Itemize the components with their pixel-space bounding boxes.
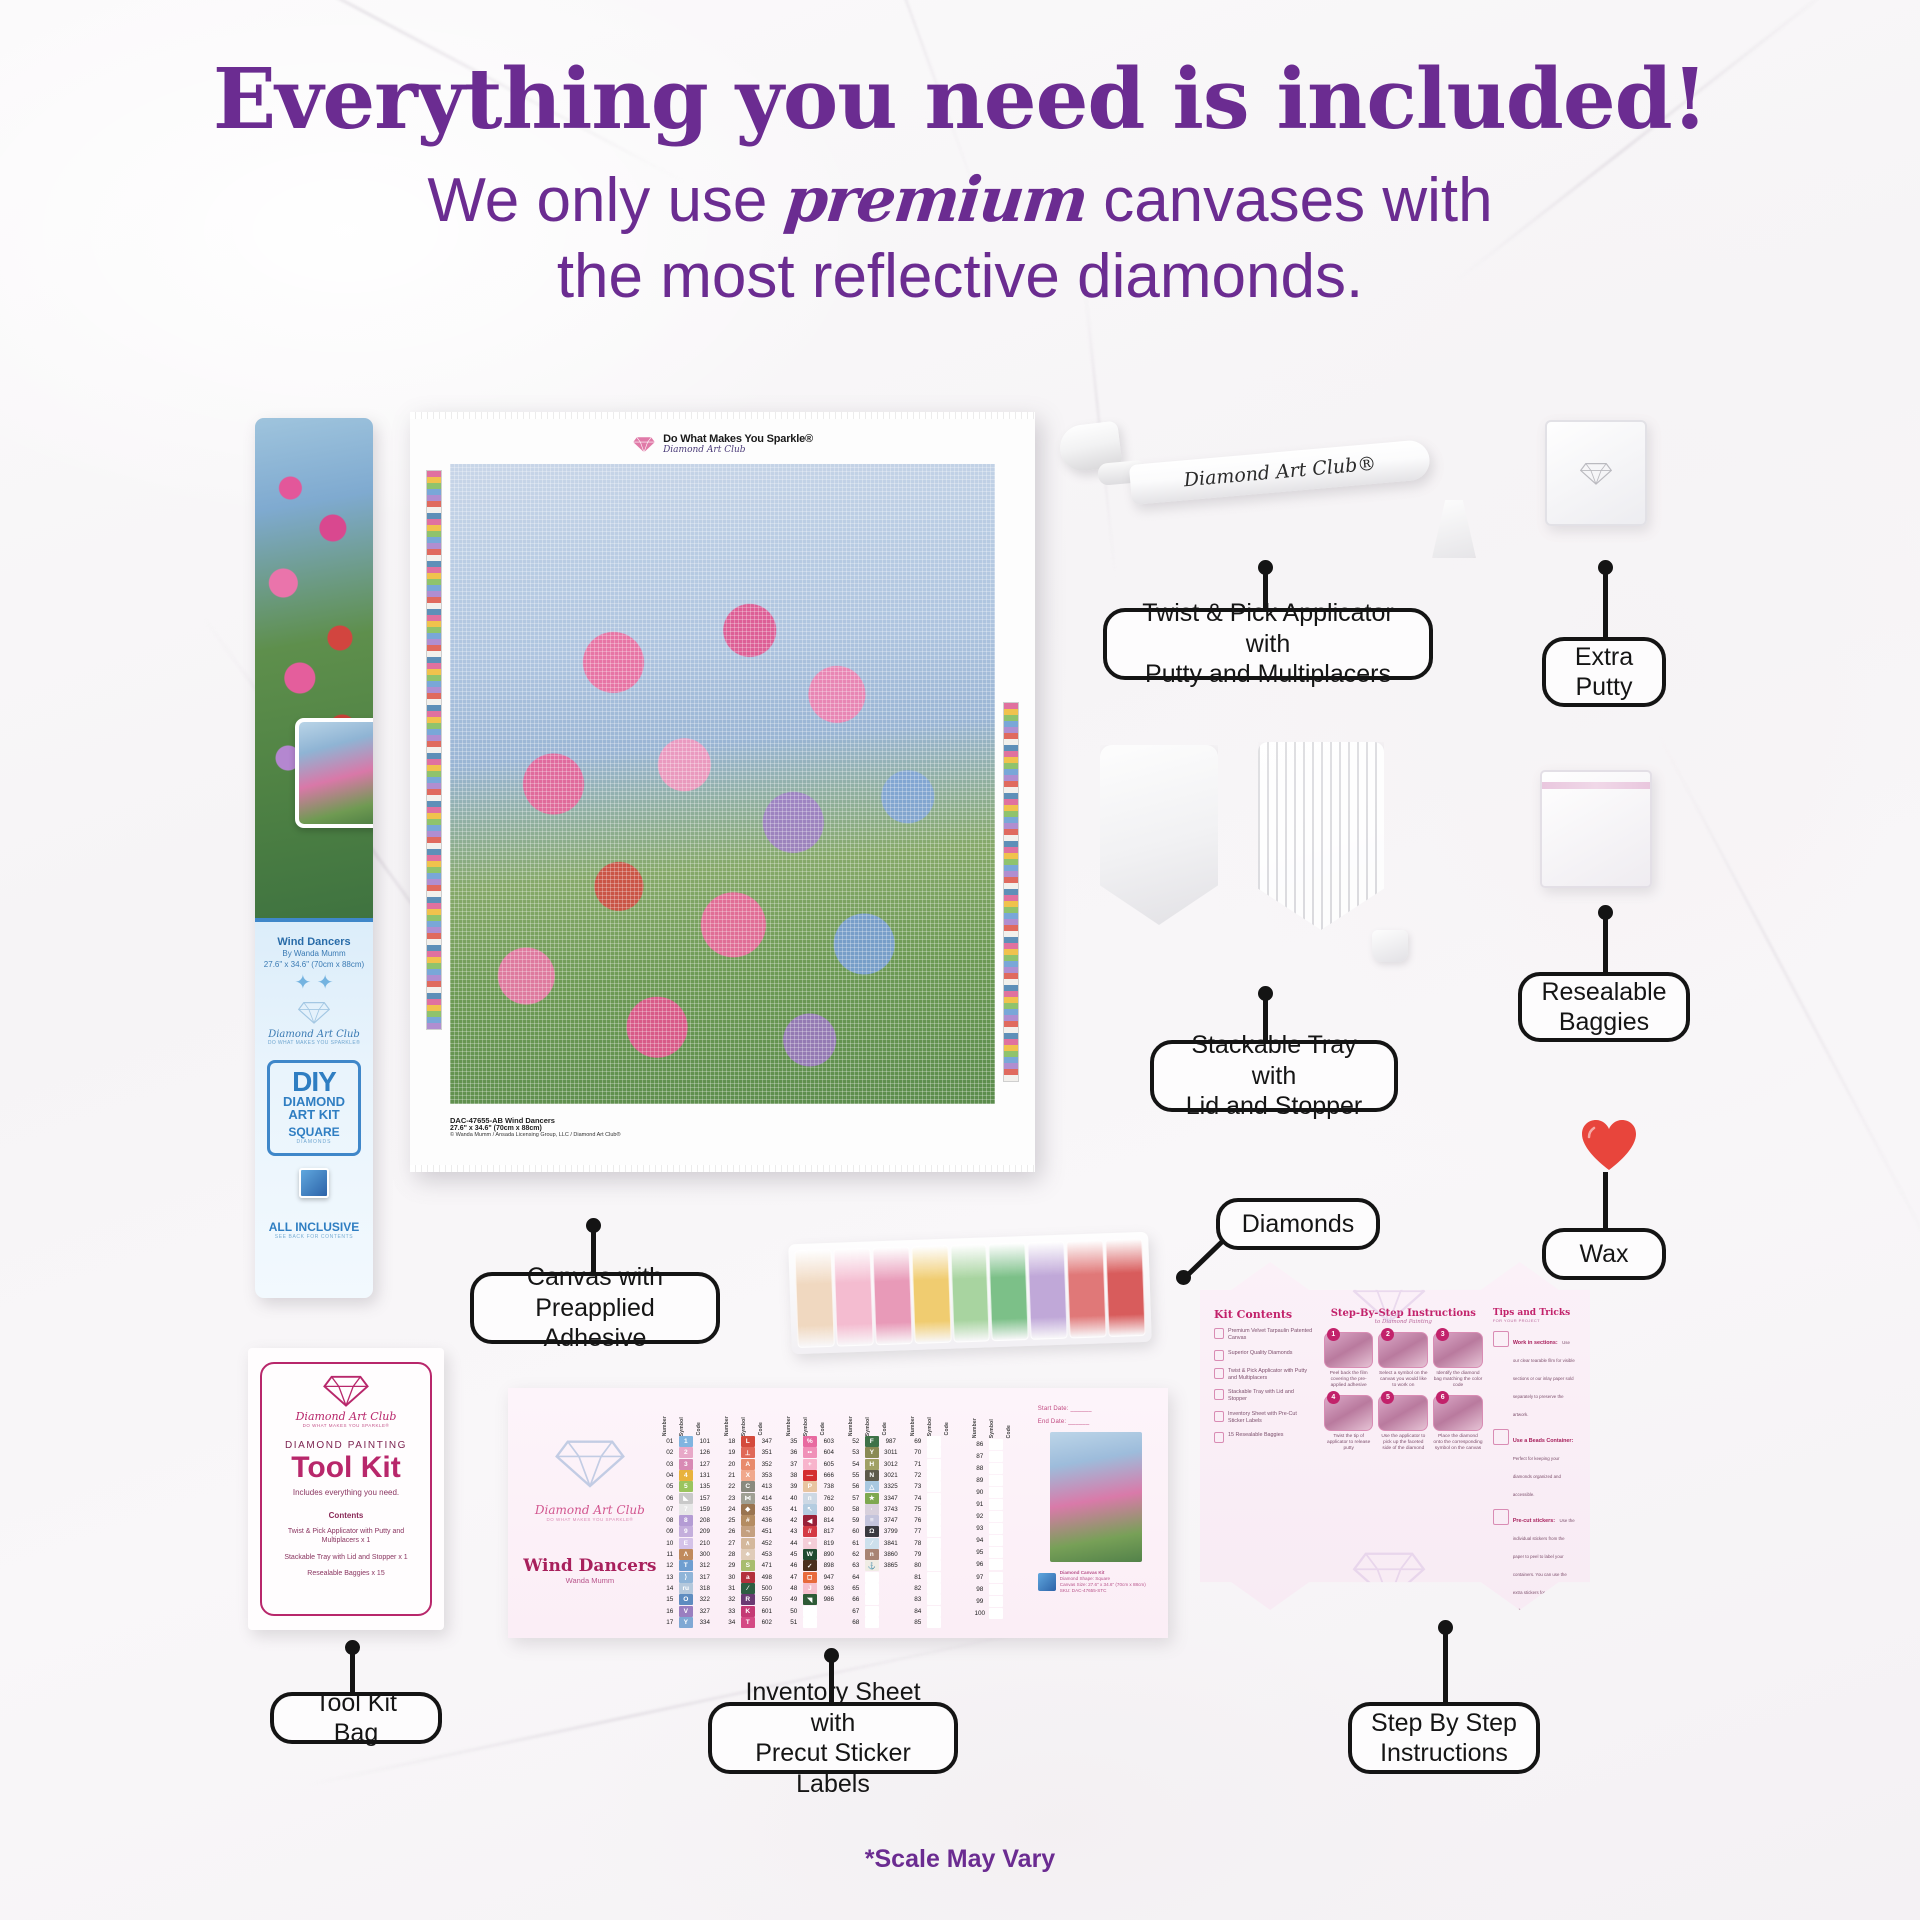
pen-brand-label: Diamond Art Club® — [1183, 453, 1377, 492]
inventory-row: 46✓898 — [786, 1560, 842, 1571]
inventory-cell-symbol: % — [803, 1436, 817, 1447]
inventory-cell-symbol: Ω — [865, 1526, 879, 1537]
inventory-row: 49◥986 — [786, 1594, 842, 1605]
inventory-column-header: NumberSymbolCode — [724, 1404, 780, 1436]
leader-dot — [1598, 560, 1613, 575]
callout-tool-kit-bag[interactable]: Tool Kit Bag — [270, 1692, 442, 1744]
callout-twist-pick[interactable]: Twist & Pick Applicator with Putty and M… — [1103, 608, 1433, 680]
inventory-artwork-preview — [1050, 1432, 1142, 1562]
subtitle-part-1: We only use — [427, 166, 767, 235]
subtitle-part-2: canvases with — [1103, 166, 1492, 235]
inventory-footer-info: Diamond Canvas Kit Diamond Shape: Square… — [1038, 1570, 1154, 1594]
tips-heading: Tips and Tricks — [1493, 1308, 1576, 1318]
inventory-cell-symbol: R — [741, 1594, 755, 1605]
inventory-cell-code: 762 — [818, 1495, 840, 1502]
applicator-pen-body: Diamond Art Club® — [1129, 439, 1431, 505]
inventory-cell-number: 06 — [662, 1495, 678, 1502]
callout-wax[interactable]: Wax — [1542, 1228, 1666, 1280]
inventory-cell-number: 87 — [972, 1453, 988, 1460]
inventory-cell-number: 21 — [724, 1472, 740, 1479]
inventory-cell-number: 76 — [910, 1517, 926, 1524]
inventory-cell-number: 24 — [724, 1506, 740, 1513]
leader-dot — [824, 1648, 839, 1663]
leader-dot — [586, 1218, 601, 1233]
inventory-row: 78 — [910, 1538, 966, 1549]
steps-subheading: to Diamond Painting — [1324, 1319, 1483, 1325]
inventory-cell-symbol: ✓ — [803, 1560, 817, 1571]
inventory-cell-number: 13 — [662, 1574, 678, 1581]
instruction-step-text: Peel back the film covering the pre-appl… — [1324, 1371, 1374, 1390]
heading-block: Everything you need is included! We only… — [0, 56, 1920, 314]
inventory-cell-code: 890 — [818, 1551, 840, 1558]
inventory-brand-name: Diamond Art Club — [518, 1503, 662, 1517]
inventory-cell-code: 157 — [694, 1495, 716, 1502]
inventory-cell-number: 72 — [910, 1472, 926, 1479]
inventory-cell-number: 61 — [848, 1540, 864, 1547]
inventory-row: 099209 — [662, 1526, 718, 1537]
inventory-cell-code: 3799 — [880, 1528, 902, 1535]
inventory-row: 29S471 — [724, 1560, 780, 1571]
inventory-cell-number: 90 — [972, 1489, 988, 1496]
inventory-cell-code: 318 — [694, 1585, 716, 1592]
inventory-column-header: NumberSymbolCode — [662, 1404, 718, 1436]
inventory-row: 71 — [910, 1458, 966, 1469]
tip-text: Use our clear tearable film for visible … — [1513, 1340, 1575, 1417]
inventory-cell-symbol — [927, 1459, 941, 1470]
inventory-cell-number: 99 — [972, 1598, 988, 1605]
inventory-cell-number: 78 — [910, 1540, 926, 1547]
inventory-cell-symbol: 4 — [679, 1470, 693, 1481]
scale-disclaimer: *Scale May Vary — [0, 1845, 1920, 1874]
inventory-side-panel: Start Date: ______ End Date: ______ Diam… — [1028, 1398, 1158, 1628]
inventory-row: 06◣157 — [662, 1492, 718, 1503]
inventory-cell-symbol — [927, 1583, 941, 1594]
inventory-row: 62n3860 — [848, 1549, 904, 1560]
instruction-step-number: 4 — [1327, 1391, 1340, 1404]
inventory-cell-symbol: Y — [865, 1447, 879, 1458]
inventory-row: 21X353 — [724, 1470, 780, 1481]
instruction-step: 4Twist the tip of applicator to release … — [1324, 1395, 1374, 1453]
inventory-cell-code: 604 — [818, 1449, 840, 1456]
callout-stackable-tray[interactable]: Stackable Tray with Lid and Stopper — [1150, 1040, 1398, 1112]
inventory-cell-code: 127 — [694, 1461, 716, 1468]
inventory-cell-code: 3865 — [880, 1562, 902, 1569]
diamond-logo-icon — [553, 1434, 627, 1490]
inventory-cell-number: 14 — [662, 1585, 678, 1592]
inventory-cell-symbol: ᴨ — [803, 1493, 817, 1504]
tube-design-size: 27.6" x 34.6" (70cm x 88cm) — [255, 959, 373, 970]
inventory-cell-code: 334 — [694, 1619, 716, 1626]
callout-extra-putty[interactable]: Extra Putty — [1542, 637, 1666, 707]
inventory-column-header: NumberSymbolCode — [972, 1404, 1028, 1438]
baggies-icon — [1214, 1432, 1224, 1443]
inventory-row: 044131 — [662, 1470, 718, 1481]
diamond-bag — [950, 1243, 990, 1342]
inventory-row: 72 — [910, 1470, 966, 1481]
inventory-cell-code: 347 — [756, 1438, 778, 1445]
inventory-header-code: Code — [820, 1422, 842, 1435]
inventory-cell-symbol — [865, 1572, 879, 1583]
callout-resealable-baggies[interactable]: Resealable Baggies — [1518, 972, 1690, 1042]
inventory-row: 77 — [910, 1526, 966, 1537]
inventory-cell-symbol — [927, 1447, 941, 1458]
toolkit-content-item: Stackable Tray with Lid and Stopper x 1 — [270, 1553, 422, 1562]
inventory-row: 68 — [848, 1617, 904, 1628]
all-inclusive-label: ALL INCLUSIVE — [255, 1220, 373, 1234]
inventory-row: 033127 — [662, 1458, 718, 1469]
inventory-cell-symbol: // — [803, 1526, 817, 1537]
inventory-cell-symbol: H — [865, 1459, 879, 1470]
leader-dot — [1258, 986, 1273, 1001]
inventory-cell-number: 74 — [910, 1495, 926, 1502]
instruction-step: 6Place the diamond onto the correspondin… — [1433, 1395, 1483, 1453]
inventory-cell-number: 77 — [910, 1528, 926, 1535]
inventory-row: 83 — [910, 1594, 966, 1605]
diamond-bags-strip — [788, 1232, 1152, 1354]
inventory-cell-code: 814 — [818, 1517, 840, 1524]
kit-contents-item: Inventory Sheet with Pre-Cut Sticker Lab… — [1214, 1411, 1314, 1426]
inventory-cell-symbol — [927, 1538, 941, 1549]
inventory-cell-number: 19 — [724, 1449, 740, 1456]
inventory-cell-number: 01 — [662, 1438, 678, 1445]
inventory-row: 55N3021 — [848, 1470, 904, 1481]
inventory-end-date[interactable]: End Date: ______ — [1038, 1419, 1154, 1425]
inventory-cell-code: 131 — [694, 1472, 716, 1479]
inventory-cell-symbol: 1 — [679, 1436, 693, 1447]
applicator-icon — [1214, 1368, 1224, 1379]
page-title: Everything you need is included! — [0, 56, 1920, 144]
toolkit-tagline: Includes everything you need. — [270, 1488, 422, 1497]
inventory-row: 80 — [910, 1560, 966, 1571]
inventory-row: 17Y334 — [662, 1617, 718, 1628]
inventory-row: 022126 — [662, 1447, 718, 1458]
inventory-cell-symbol: ◣ — [679, 1493, 693, 1504]
inventory-cell-symbol: W — [803, 1549, 817, 1560]
steps-heading: Step-By-Step Instructions — [1324, 1308, 1483, 1319]
canvas-footer: DAC-47655-AB Wind Dancers 27.6" x 34.6" … — [450, 1116, 995, 1156]
inventory-row: 88 — [972, 1462, 1028, 1474]
inventory-start-date[interactable]: Start Date: ______ — [1038, 1406, 1154, 1412]
inventory-row: 15O322 — [662, 1594, 718, 1605]
inventory-cell-symbol: △ — [865, 1481, 879, 1492]
diy-badge-line-2: ART KIT — [272, 1108, 356, 1122]
inventory-cell-number: 44 — [786, 1540, 802, 1547]
inventory-cell-symbol — [865, 1594, 879, 1605]
inventory-cell-symbol: 9 — [679, 1526, 693, 1537]
inventory-cell-code: 3011 — [880, 1449, 902, 1456]
inventory-cell-number: 52 — [848, 1438, 864, 1445]
diamond-bag — [911, 1245, 951, 1344]
inventory-column: NumberSymbolCode18L34719⊥35120A35221X353… — [724, 1404, 780, 1628]
inventory-cell-number: 07 — [662, 1506, 678, 1513]
inventory-cell-number: 10 — [662, 1540, 678, 1547]
toolkit-subtitle: DIAMOND PAINTING — [270, 1440, 422, 1451]
inventory-cell-number: 58 — [848, 1506, 864, 1513]
inventory-cell-code: 603 — [818, 1438, 840, 1445]
inventory-cell-number: 91 — [972, 1501, 988, 1508]
page-subtitle: We only use premium canvases with the mo… — [0, 162, 1920, 314]
inventory-cell-code: 317 — [694, 1574, 716, 1581]
inventory-cell-symbol — [989, 1584, 1003, 1595]
canvas-header: Do What Makes You Sparkle® Diamond Art C… — [420, 424, 1025, 464]
leader-dot — [1258, 560, 1273, 575]
inventory-cell-code: 3012 — [880, 1461, 902, 1468]
inventory-cell-symbol: n — [865, 1549, 879, 1560]
canvas-copyright: © Wanda Mumm / Ansada Licensing Group, L… — [450, 1132, 995, 1138]
inventory-cell-symbol: S — [741, 1560, 755, 1571]
inventory-row: 86 — [972, 1438, 1028, 1450]
tube-design-author: By Wanda Mumm — [255, 948, 373, 959]
instruction-step-number: 1 — [1327, 1328, 1340, 1341]
inventory-row: 22C413 — [724, 1481, 780, 1492]
inventory-cell-symbol — [989, 1463, 1003, 1474]
inventory-row: 39P738 — [786, 1481, 842, 1492]
inventory-row: 96 — [972, 1559, 1028, 1571]
tube-artwork-print — [255, 418, 373, 918]
inventory-cell-symbol: # — [741, 1515, 755, 1526]
inventory-cell-symbol — [989, 1572, 1003, 1583]
inventory-cell-symbol — [989, 1523, 1003, 1534]
inventory-row: 43//817 — [786, 1526, 842, 1537]
canvas-artwork — [450, 464, 995, 1104]
inventory-cell-number: 62 — [848, 1551, 864, 1558]
inventory-cell-code: 436 — [756, 1517, 778, 1524]
inventory-cell-symbol: Λ — [679, 1549, 693, 1560]
tray-icon — [1214, 1389, 1224, 1400]
diy-badge-line-1: DIAMOND — [272, 1095, 356, 1109]
inventory-row: 25#436 — [724, 1515, 780, 1526]
tip-row: Pre-cut stickers: Use the individual sti… — [1493, 1509, 1576, 1617]
tip-title: Pre-cut stickers: — [1513, 1518, 1555, 1524]
inventory-row: 75 — [910, 1504, 966, 1515]
rolled-canvas-tube: Wind Dancers By Wanda Mumm 27.6" x 34.6"… — [255, 418, 373, 1298]
inventory-cell-code: 800 — [818, 1506, 840, 1513]
inventory-cell-number: 98 — [972, 1586, 988, 1593]
instruction-step: 5Use the applicator to pick up the facet… — [1378, 1395, 1428, 1453]
inventory-sheet: Diamond Art Club DO WHAT MAKES YOU SPARK… — [508, 1388, 1168, 1638]
diamond-bag — [1066, 1239, 1106, 1338]
tip-row: Use a Beads Container: Perfect for keepi… — [1493, 1429, 1576, 1501]
inventory-cell-number: 35 — [786, 1438, 802, 1445]
instruction-step-number: 6 — [1436, 1391, 1449, 1404]
inventory-cell-number: 27 — [724, 1540, 740, 1547]
toolkit-content-item: Twist & Pick Applicator with Putty and M… — [270, 1527, 422, 1546]
diamond-bag — [1105, 1238, 1145, 1337]
all-inclusive-sublabel: SEE BACK FOR CONTENTS — [255, 1234, 373, 1240]
inventory-cell-number: 04 — [662, 1472, 678, 1479]
inventory-cell-number: 22 — [724, 1483, 740, 1490]
canvas-brand-name: Diamond Art Club — [663, 445, 813, 455]
inventory-cell-symbol — [927, 1436, 941, 1447]
inventory-cell-symbol — [927, 1481, 941, 1492]
inventory-row: 27∧452 — [724, 1538, 780, 1549]
inventory-cell-number: 26 — [724, 1528, 740, 1535]
kit-contents-item: Twist & Pick Applicator with Putty and M… — [1214, 1368, 1314, 1383]
inventory-header-number: Number — [662, 1416, 678, 1436]
diy-badge-square-sub: DIAMONDS — [272, 1139, 356, 1145]
inventory-cell-symbol — [927, 1493, 941, 1504]
inventory-cell-code: 101 — [694, 1438, 716, 1445]
kit-contents-item-label: 15 Resealable Baggies — [1228, 1432, 1283, 1439]
sections-icon — [1493, 1331, 1509, 1347]
inventory-cell-number: 83 — [910, 1596, 926, 1603]
inventory-cell-code: 3347 — [880, 1495, 902, 1502]
kit-contents-item-label: Stackable Tray with Lid and Stopper — [1228, 1389, 1314, 1404]
diy-badge-word: DIY — [272, 1069, 356, 1094]
inventory-column: NumberSymbolCode011101022126033127044131… — [662, 1404, 718, 1628]
tip-row: Work in sections: Use our clear tearable… — [1493, 1331, 1576, 1421]
inventory-cell-number: 37 — [786, 1461, 802, 1468]
inventory-cell-symbol: ⁄ — [865, 1538, 879, 1549]
inventory-cell-number: 05 — [662, 1483, 678, 1490]
canvas-dimensions: 27.6" x 34.6" (70cm x 88cm) — [450, 1125, 995, 1132]
inventory-cell-symbol: ¬ — [741, 1526, 755, 1537]
inventory-cell-symbol — [927, 1560, 941, 1571]
inventory-header-symbol: Symbol — [865, 1417, 881, 1436]
inventory-cell-symbol: J — [803, 1583, 817, 1594]
inventory-cell-number: 28 — [724, 1551, 740, 1558]
inventory-row: 41↖800 — [786, 1504, 842, 1515]
callout-diamonds[interactable]: Diamonds — [1216, 1198, 1380, 1250]
inventory-cell-code: 453 — [756, 1551, 778, 1558]
inventory-cell-number: 96 — [972, 1561, 988, 1568]
inventory-row: 69 — [910, 1436, 966, 1447]
inventory-cell-code: 500 — [756, 1585, 778, 1592]
tool-kit-bag: Diamond Art Club DO WHAT MAKES YOU SPARK… — [248, 1348, 444, 1630]
inventory-cell-symbol — [803, 1617, 817, 1628]
inventory-header-symbol: Symbol — [741, 1417, 757, 1436]
inventory-cell-number: 38 — [786, 1472, 802, 1479]
inventory-row: 47◻947 — [786, 1572, 842, 1583]
tips-subheading: FOR YOUR PROJECT — [1493, 1318, 1576, 1323]
leader-dot — [1176, 1270, 1191, 1285]
callout-canvas-adhesive[interactable]: Canvas with Preapplied Adhesive — [470, 1272, 720, 1344]
inventory-row: 33K601 — [724, 1605, 780, 1616]
inventory-cell-code: 601 — [756, 1608, 778, 1615]
inventory-cell-code: 986 — [818, 1596, 840, 1603]
inventory-row: 70 — [910, 1447, 966, 1458]
inventory-cell-number: 36 — [786, 1449, 802, 1456]
kit-contents-item: 15 Resealable Baggies — [1214, 1432, 1314, 1443]
inventory-cell-symbol: F — [865, 1436, 879, 1447]
inventory-cell-symbol — [989, 1608, 1003, 1619]
leader-dot — [1438, 1620, 1453, 1635]
inventory-cell-number: 63 — [848, 1562, 864, 1569]
inventory-sheet-icon — [1214, 1411, 1224, 1422]
inventory-row: 44●819 — [786, 1538, 842, 1549]
inventory-cell-code: 322 — [694, 1596, 716, 1603]
inventory-cell-number: 54 — [848, 1461, 864, 1468]
stackable-tray-base — [1100, 745, 1218, 925]
inventory-cell-symbol — [989, 1451, 1003, 1462]
inventory-cell-code: 498 — [756, 1574, 778, 1581]
inventory-row: 38—666 — [786, 1470, 842, 1481]
inventory-column: NumberSymbolCode697071727374757677787980… — [910, 1404, 966, 1628]
inventory-cell-number: 81 — [910, 1574, 926, 1581]
beads-container-icon — [1493, 1429, 1509, 1445]
inventory-header-symbol: Symbol — [679, 1417, 695, 1436]
inventory-row: 011101 — [662, 1436, 718, 1447]
inventory-cell-number: 93 — [972, 1525, 988, 1532]
inventory-cell-symbol: ⁄ — [741, 1583, 755, 1594]
inventory-cell-number: 55 — [848, 1472, 864, 1479]
inventory-cell-symbol — [927, 1606, 941, 1617]
inventory-row: 74 — [910, 1492, 966, 1503]
inventory-cell-symbol — [989, 1439, 1003, 1450]
inventory-cell-number: 86 — [972, 1441, 988, 1448]
inventory-row: 40ᴨ762 — [786, 1492, 842, 1503]
inventory-cell-number: 67 — [848, 1608, 864, 1615]
inventory-row: 59≡3747 — [848, 1515, 904, 1526]
inventory-cell-number: 100 — [972, 1610, 988, 1617]
inventory-header-code: Code — [944, 1422, 966, 1435]
inventory-row: 97 — [972, 1571, 1028, 1583]
stackable-tray-lid — [1258, 742, 1384, 930]
inventory-cell-symbol — [803, 1606, 817, 1617]
inventory-row: 055135 — [662, 1481, 718, 1492]
inventory-row: 64 — [848, 1572, 904, 1583]
inventory-cell-code: 3841 — [880, 1540, 902, 1547]
inventory-row: 37+605 — [786, 1458, 842, 1469]
multiplacer-icon — [1493, 1625, 1509, 1641]
inventory-cell-number: 65 — [848, 1585, 864, 1592]
stickers-icon — [1493, 1509, 1509, 1525]
tray-stopper — [1372, 930, 1408, 962]
inventory-cell-number: 80 — [910, 1562, 926, 1569]
inventory-cell-symbol: X — [741, 1470, 755, 1481]
inventory-row: 67 — [848, 1605, 904, 1616]
inventory-design-title: Wind Dancers — [518, 1556, 662, 1576]
tip-text: Perfect for keeping your diamonds organi… — [1513, 1456, 1561, 1497]
callout-inventory-sheet[interactable]: Inventory Sheet with Precut Sticker Labe… — [708, 1702, 958, 1774]
inventory-cell-symbol: ● — [803, 1538, 817, 1549]
inventory-row: 52F987 — [848, 1436, 904, 1447]
inventory-cell-number: 32 — [724, 1596, 740, 1603]
step-by-step-panel: Step-By-Step Instructions to Diamond Pai… — [1324, 1308, 1483, 1580]
tip-title: Multiplacers: — [1513, 1634, 1546, 1640]
inventory-cell-code: 3747 — [880, 1517, 902, 1524]
diamond-painting-canvas: Do What Makes You Sparkle® Diamond Art C… — [410, 412, 1035, 1172]
inventory-cell-number: 49 — [786, 1596, 802, 1603]
inventory-row: 24◆435 — [724, 1504, 780, 1515]
inventory-cell-number: 02 — [662, 1449, 678, 1456]
inventory-cell-code: 327 — [694, 1608, 716, 1615]
diy-badge: DIY DIAMOND ART KIT SQUARE DIAMONDS — [267, 1060, 361, 1155]
inventory-row: 12T312 — [662, 1560, 718, 1571]
inventory-cell-code: 819 — [818, 1540, 840, 1547]
diamond-bag — [794, 1249, 834, 1348]
inventory-row: 14ru318 — [662, 1583, 718, 1594]
inventory-cell-code: 666 — [818, 1472, 840, 1479]
inventory-cell-code: 817 — [818, 1528, 840, 1535]
inventory-header-symbol: Symbol — [803, 1417, 819, 1436]
inventory-color-table: NumberSymbolCode011101022126033127044131… — [662, 1398, 1028, 1628]
callout-step-by-step[interactable]: Step By Step Instructions — [1348, 1702, 1540, 1774]
inventory-row: 26¬451 — [724, 1526, 780, 1537]
resealable-baggies — [1540, 770, 1652, 888]
inventory-cell-symbol — [989, 1487, 1003, 1498]
inventory-cell-number: 48 — [786, 1585, 802, 1592]
inventory-cell-number: 12 — [662, 1562, 678, 1569]
inventory-cell-symbol — [989, 1596, 1003, 1607]
tube-label: Wind Dancers By Wanda Mumm 27.6" x 34.6"… — [255, 918, 373, 1298]
inventory-row: 85 — [910, 1617, 966, 1628]
inventory-cell-symbol — [989, 1499, 1003, 1510]
infographic-canvas: Everything you need is included! We only… — [0, 0, 1920, 1920]
toolkit-brand-name: Diamond Art Club — [270, 1410, 422, 1423]
inventory-row: 23⋈414 — [724, 1492, 780, 1503]
inventory-cell-number: 68 — [848, 1619, 864, 1626]
